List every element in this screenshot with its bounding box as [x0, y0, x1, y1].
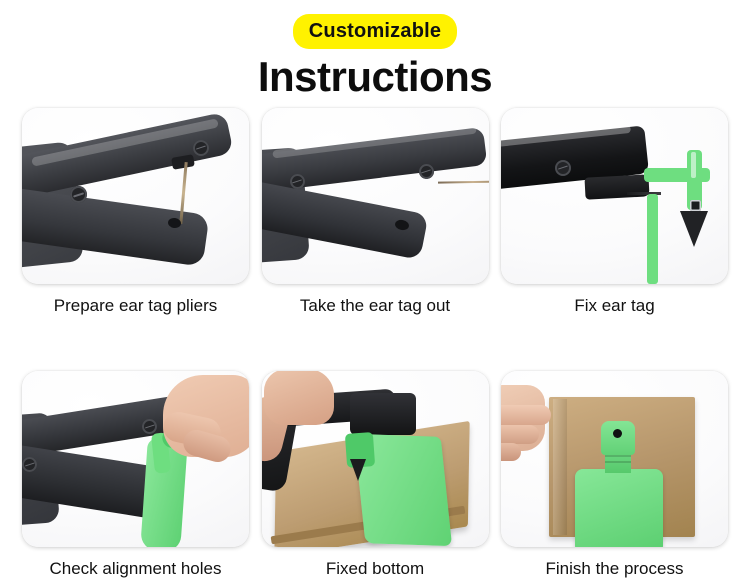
finger-icon: [501, 443, 521, 461]
step-caption: Prepare ear tag pliers: [22, 296, 249, 316]
customizable-badge: Customizable: [293, 14, 457, 49]
step-caption: Take the ear tag out: [262, 296, 489, 316]
photo-ear-tag-removed: [262, 108, 489, 284]
step-item-6: Finish the process: [501, 371, 728, 579]
step-caption: Check alignment holes: [22, 559, 249, 579]
hand-icon: [264, 371, 334, 425]
ear-tag-slot-icon: [691, 152, 696, 178]
ear-tag-head-icon: [601, 421, 635, 455]
screw-icon: [193, 140, 209, 156]
page-title: Instructions: [0, 55, 750, 99]
ear-tag-rib: [605, 461, 631, 463]
ear-tag-body-icon: [575, 469, 663, 547]
photo-finished-tag-on-cardboard: [501, 371, 728, 547]
badge-container: Customizable: [0, 14, 750, 49]
ear-tag-strap-icon: [647, 194, 658, 284]
screw-icon: [555, 160, 571, 176]
ear-tag-rib: [605, 455, 631, 457]
steps-row-2: Check alignment holes Fixed bottom: [0, 371, 750, 579]
instruction-steps-grid: Prepare ear tag pliers Take the ear tag …: [0, 108, 750, 580]
step-item-2: Take the ear tag out: [262, 108, 489, 316]
photo-ear-tag-pliers-open: [22, 108, 249, 284]
screw-icon: [70, 186, 87, 203]
steps-row-1: Prepare ear tag pliers Take the ear tag …: [0, 108, 750, 316]
finger-icon: [501, 405, 551, 425]
screw-icon: [290, 174, 305, 189]
screw-icon: [419, 164, 434, 179]
photo-green-tag-mounted: [501, 108, 728, 284]
instructions-header: Customizable Instructions: [0, 0, 750, 99]
step-caption: Fixed bottom: [262, 559, 489, 579]
finger-icon: [501, 425, 539, 444]
step-caption: Fix ear tag: [501, 296, 728, 316]
ear-tag-chip-icon: [690, 200, 701, 211]
step-item-4: Check alignment holes: [22, 371, 249, 579]
plier-nose-icon: [584, 174, 649, 199]
photo-tag-punched-cardboard: [262, 371, 489, 547]
step-item-5: Fixed bottom: [262, 371, 489, 579]
photo-hand-checking-alignment: [22, 371, 249, 547]
cardboard-edge: [553, 399, 567, 535]
ear-tag-spike-icon: [350, 459, 366, 481]
ear-tag-spike-icon: [680, 211, 708, 247]
step-item-3: Fix ear tag: [501, 108, 728, 316]
plier-head-icon: [350, 393, 416, 435]
step-item-1: Prepare ear tag pliers: [22, 108, 249, 316]
step-caption: Finish the process: [501, 559, 728, 579]
